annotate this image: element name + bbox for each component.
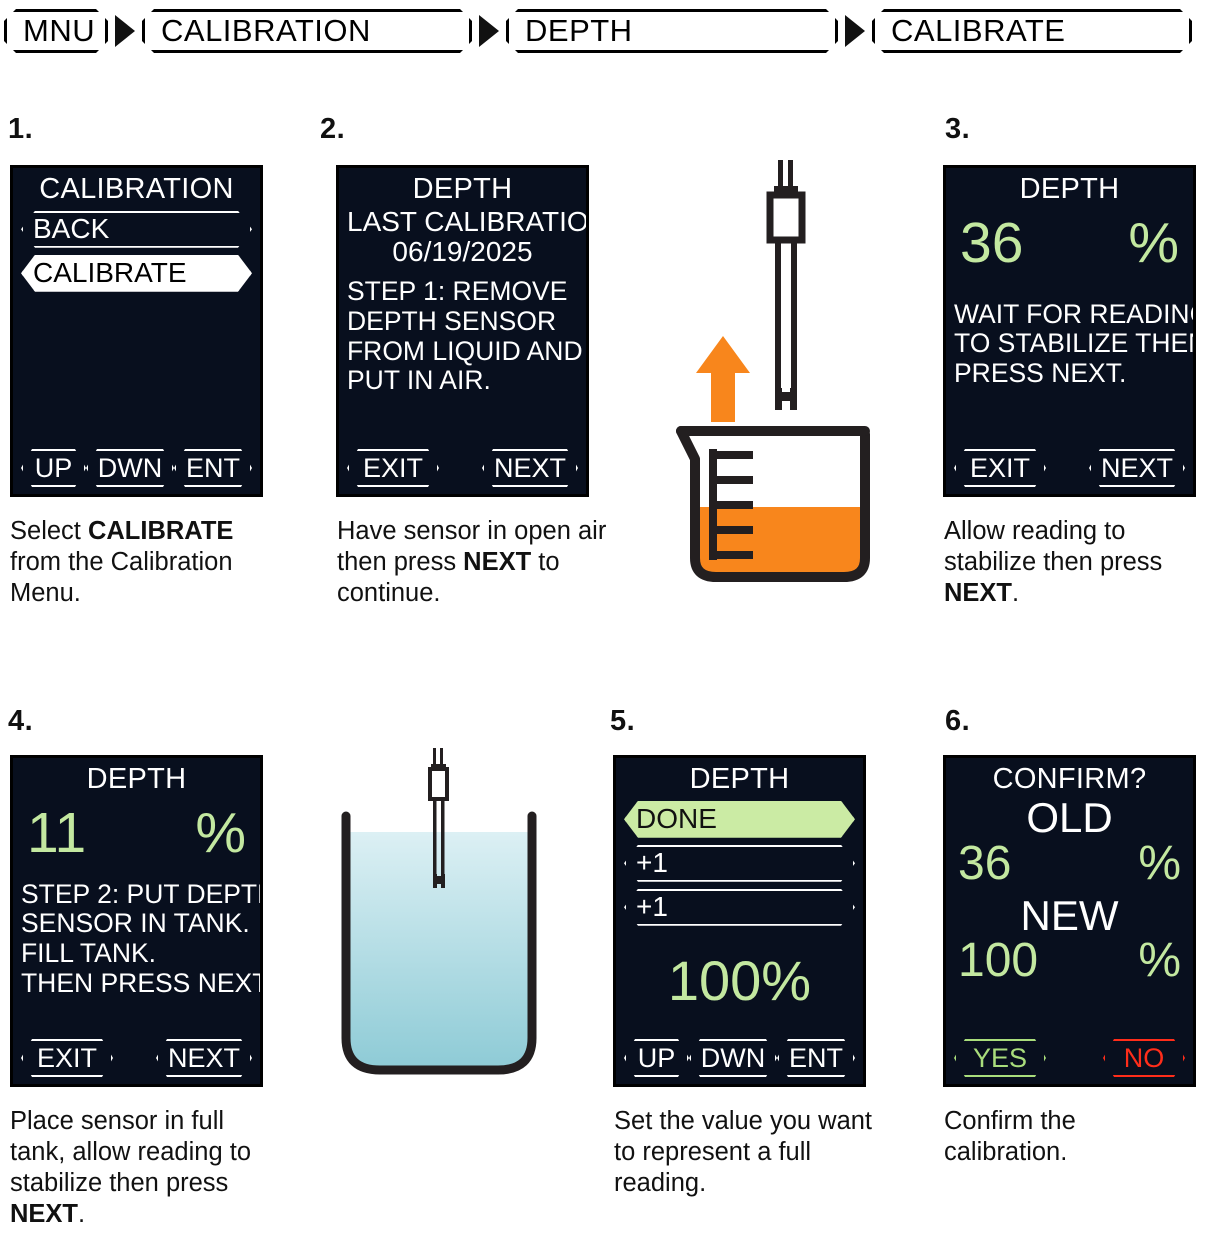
step-number-1: 1.	[8, 113, 33, 146]
softkey-row: YES NO	[954, 1039, 1185, 1077]
screen-title: CALIBRATION	[21, 174, 252, 205]
device-screen-step-1: CALIBRATION BACK CALIBRATE UP DWN ENT	[10, 165, 263, 497]
tank-illustration	[330, 748, 560, 1093]
menu-item-calibrate[interactable]: CALIBRATE	[21, 255, 252, 292]
softkey-label: DWN	[98, 453, 162, 484]
old-unit: %	[1138, 840, 1181, 889]
breadcrumb-label: DEPTH	[525, 13, 633, 49]
breadcrumb-label: CALIBRATE	[891, 13, 1065, 49]
reading-value: 11	[27, 805, 86, 862]
softkey-next[interactable]: NEXT	[156, 1039, 252, 1077]
tank-liquid	[349, 832, 529, 1068]
new-value: 100	[958, 937, 1038, 986]
instruction-line: FILL TANK.	[21, 939, 252, 969]
instruction-line: THEN PRESS NEXT	[21, 969, 252, 999]
reading-unit: %	[195, 805, 246, 862]
screen-title: DEPTH	[21, 764, 252, 795]
instruction-text: STEP 2: PUT DEPTH SENSOR IN TANK. FILL T…	[21, 880, 252, 999]
new-unit: %	[1138, 937, 1181, 986]
menu-item-label: +1	[636, 891, 668, 923]
breadcrumb-label: MNU	[23, 13, 95, 49]
caption-step-5: Set the value you want to represent a fu…	[614, 1106, 894, 1199]
depth-reading: 36 %	[954, 215, 1185, 272]
beaker-illustration	[668, 160, 908, 610]
softkey-up[interactable]: UP	[624, 1039, 689, 1077]
softkey-label: YES	[973, 1043, 1027, 1074]
caption-step-6: Confirm the calibration.	[944, 1106, 1204, 1168]
menu-item-label: +1	[636, 847, 668, 879]
caption-step-3: Allow reading to stabilize then press NE…	[944, 516, 1209, 609]
caption-text: .	[1012, 579, 1019, 607]
instruction-line: WAIT FOR READING	[954, 300, 1185, 330]
instruction-line: PRESS NEXT.	[954, 359, 1185, 389]
softkey-label: NEXT	[494, 453, 566, 484]
reading-value: 36	[960, 215, 1023, 272]
new-value-label: NEW	[954, 895, 1185, 938]
old-value: 36	[958, 840, 1011, 889]
softkey-next[interactable]: NEXT	[482, 449, 578, 487]
softkey-ent[interactable]: ENT	[777, 1039, 855, 1077]
full-reading-value: 100%	[624, 953, 855, 1009]
caption-text: Confirm the	[944, 1107, 1076, 1135]
instruction-line: STEP 1: REMOVE	[347, 277, 578, 307]
old-value-label: OLD	[954, 797, 1185, 840]
caption-text: tank, allow reading	[10, 1138, 223, 1166]
softkey-ent[interactable]: ENT	[174, 449, 252, 487]
beaker-liquid	[694, 507, 866, 578]
caption-text: Place sensor in full	[10, 1107, 224, 1135]
caption-text: press	[1100, 548, 1162, 576]
softkey-label: DWN	[701, 1043, 765, 1074]
caption-text: Allow reading to	[944, 517, 1125, 545]
menu-item-increment-2[interactable]: +1	[624, 889, 855, 926]
softkey-label: EXIT	[363, 453, 423, 484]
breadcrumb-item-mnu[interactable]: MNU	[4, 9, 108, 53]
softkey-row: EXIT NEXT	[21, 1039, 252, 1077]
menu-item-label: BACK	[33, 213, 109, 245]
breadcrumb: MNU CALIBRATION DEPTH CALIBRATE	[4, 6, 1192, 56]
breadcrumb-label: CALIBRATION	[161, 13, 371, 49]
softkey-yes[interactable]: YES	[954, 1039, 1046, 1077]
softkey-label: UP	[35, 453, 73, 484]
tank-svg	[330, 748, 560, 1093]
instruction-line: SENSOR IN TANK.	[21, 909, 252, 939]
screen-title: DEPTH	[347, 174, 578, 205]
screen-title: DEPTH	[624, 764, 855, 795]
caption-step-4: Place sensor in full tank, allow reading…	[10, 1106, 280, 1229]
instruction-text: STEP 1: REMOVE DEPTH SENSOR FROM LIQUID …	[347, 277, 578, 396]
screen-title: DEPTH	[954, 174, 1185, 205]
softkey-label: NEXT	[1101, 453, 1173, 484]
triangle-right-icon	[472, 9, 506, 53]
old-value-row: 36 %	[954, 840, 1185, 889]
up-arrow-icon	[696, 336, 750, 422]
softkey-row: EXIT NEXT	[954, 449, 1185, 487]
menu-item-done[interactable]: DONE	[624, 801, 855, 838]
device-screen-step-5: DEPTH DONE +1 +1 100% UP DWN ENT	[613, 755, 866, 1087]
new-value-row: 100 %	[954, 937, 1185, 986]
softkey-label: NEXT	[168, 1043, 240, 1074]
instruction-line: DEPTH SENSOR	[347, 307, 578, 337]
softkey-exit[interactable]: EXIT	[347, 449, 439, 487]
triangle-right-icon	[838, 9, 872, 53]
instruction-line: STEP 2: PUT DEPTH	[21, 880, 252, 910]
caption-emphasis: NEXT	[10, 1200, 78, 1228]
caption-step-2: Have sensor in open air then press NEXT …	[337, 516, 622, 609]
caption-emphasis: NEXT	[944, 579, 1012, 607]
step-number-6: 6.	[945, 705, 970, 738]
menu-item-label: CALIBRATE	[33, 257, 187, 289]
reading-unit: %	[1128, 215, 1179, 272]
caption-step-1: Select CALIBRATE from the Calibration Me…	[10, 516, 290, 609]
breadcrumb-item-calibrate[interactable]: CALIBRATE	[872, 9, 1192, 53]
beaker-svg	[668, 160, 908, 610]
caption-text: .	[78, 1200, 85, 1228]
softkey-row: UP DWN ENT	[624, 1039, 855, 1077]
calibration-guide-page: MNU CALIBRATION DEPTH CALIBRATE 1. CALIB…	[0, 0, 1209, 1239]
menu-item-back[interactable]: BACK	[21, 211, 252, 248]
menu-item-increment-1[interactable]: +1	[624, 845, 855, 882]
caption-text: Select	[10, 517, 88, 545]
caption-emphasis: CALIBRATE	[88, 517, 233, 545]
softkey-label: EXIT	[970, 453, 1030, 484]
caption-emphasis: NEXT	[463, 548, 531, 576]
instruction-line: TO STABILIZE THEN	[954, 329, 1185, 359]
instruction-line: PUT IN AIR.	[347, 366, 578, 396]
softkey-label: EXIT	[37, 1043, 97, 1074]
softkey-label: ENT	[789, 1043, 843, 1074]
caption-text: stabilize then	[944, 548, 1093, 576]
step-number-3: 3.	[945, 113, 970, 146]
caption-text: press	[166, 1169, 228, 1197]
device-screen-step-3: DEPTH 36 % WAIT FOR READING TO STABILIZE…	[943, 165, 1196, 497]
step-number-2: 2.	[320, 113, 345, 146]
softkey-label: UP	[638, 1043, 676, 1074]
breadcrumb-item-calibration[interactable]: CALIBRATION	[142, 9, 472, 53]
device-screen-step-4: DEPTH 11 % STEP 2: PUT DEPTH SENSOR IN T…	[10, 755, 263, 1087]
caption-text: Menu.	[10, 579, 81, 607]
probe-icon	[770, 160, 802, 410]
caption-text: Have sensor in open	[337, 517, 571, 545]
beaker-icon	[680, 431, 866, 578]
depth-reading: 11 %	[21, 805, 252, 862]
softkey-dwn[interactable]: DWN	[86, 449, 174, 487]
caption-text: calibration.	[944, 1138, 1067, 1166]
softkey-up[interactable]: UP	[21, 449, 86, 487]
instruction-line: FROM LIQUID AND	[347, 337, 578, 367]
last-calibration-label: LAST CALIBRATION	[347, 207, 578, 237]
softkey-dwn[interactable]: DWN	[689, 1039, 777, 1077]
step-number-5: 5.	[610, 705, 635, 738]
instruction-text: WAIT FOR READING TO STABILIZE THEN PRESS…	[954, 300, 1185, 389]
softkey-label: ENT	[186, 453, 240, 484]
softkey-next[interactable]: NEXT	[1089, 449, 1185, 487]
caption-text: Set the value you	[614, 1107, 811, 1135]
screen-title: CONFIRM?	[954, 764, 1185, 795]
tank-icon	[346, 816, 532, 1070]
step-number-4: 4.	[8, 705, 33, 738]
device-screen-step-6: CONFIRM? OLD 36 % NEW 100 % YES NO	[943, 755, 1196, 1087]
device-screen-step-2: DEPTH LAST CALIBRATION 06/19/2025 STEP 1…	[336, 165, 589, 497]
caption-text: from the Calibration	[10, 548, 233, 576]
softkey-row: UP DWN ENT	[21, 449, 252, 487]
softkey-label: NO	[1124, 1043, 1165, 1074]
breadcrumb-item-depth[interactable]: DEPTH	[506, 9, 838, 53]
menu-item-label: DONE	[636, 803, 717, 835]
softkey-exit[interactable]: EXIT	[21, 1039, 113, 1077]
softkey-exit[interactable]: EXIT	[954, 449, 1046, 487]
softkey-row: EXIT NEXT	[347, 449, 578, 487]
last-calibration-date: 06/19/2025	[347, 237, 578, 267]
triangle-right-icon	[108, 9, 142, 53]
softkey-no[interactable]: NO	[1103, 1039, 1185, 1077]
